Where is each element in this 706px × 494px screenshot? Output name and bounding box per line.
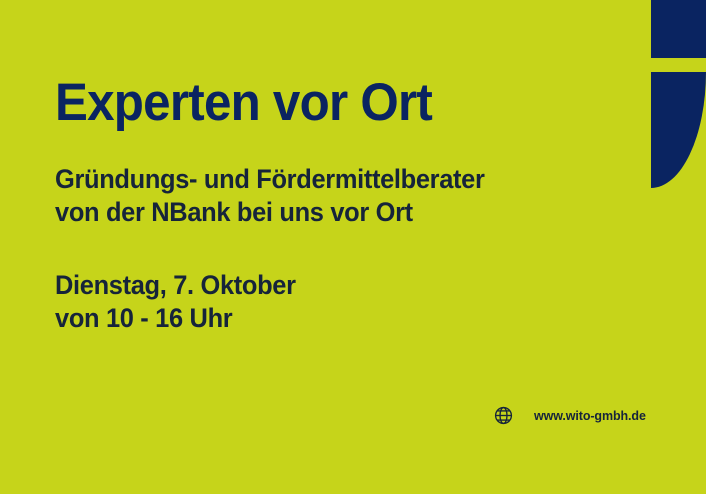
logo-bar-top [651, 0, 706, 58]
event-time: von 10 - 16 Uhr [55, 302, 296, 335]
poster-subheadline: Gründungs- und Fördermittelberater von d… [55, 163, 485, 229]
logo-bar-bottom [651, 72, 706, 188]
subheadline-line-1: Gründungs- und Fördermittelberater [55, 163, 485, 196]
event-datetime: Dienstag, 7. Oktober von 10 - 16 Uhr [55, 269, 296, 335]
event-date: Dienstag, 7. Oktober [55, 269, 296, 302]
page-title: Experten vor Ort [55, 74, 432, 132]
globe-icon [494, 406, 513, 425]
subheadline-line-2: von der NBank bei uns vor Ort [55, 196, 485, 229]
event-poster: Experten vor Ort Gründungs- und Fördermi… [0, 0, 706, 494]
nbank-logo-mark [651, 0, 706, 190]
website-url[interactable]: www.wito-gmbh.de [534, 409, 646, 423]
poster-footer: www.wito-gmbh.de [494, 406, 646, 425]
